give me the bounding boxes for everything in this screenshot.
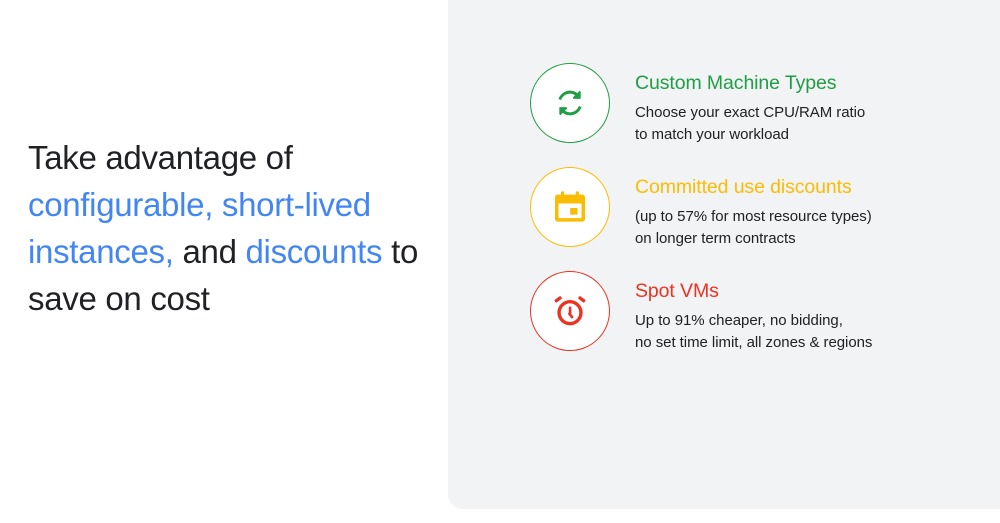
headline-accent-2: discounts xyxy=(246,233,383,270)
feature-description: (up to 57% for most resource types) on l… xyxy=(635,206,872,250)
left-panel: Take advantage of configurable, short-li… xyxy=(0,0,448,523)
feature-list: Custom Machine Types Choose your exact C… xyxy=(530,63,1000,354)
feature-title: Custom Machine Types xyxy=(635,71,865,96)
feature-item-committed-use-discounts: Committed use discounts (up to 57% for m… xyxy=(530,167,1000,250)
feature-title: Committed use discounts xyxy=(635,175,872,200)
sync-icon xyxy=(530,63,610,143)
feature-text-block: Committed use discounts (up to 57% for m… xyxy=(635,167,872,250)
headline-segment-2: and xyxy=(174,233,246,270)
feature-title: Spot VMs xyxy=(635,279,872,304)
feature-text-block: Spot VMs Up to 91% cheaper, no bidding, … xyxy=(635,271,872,354)
feature-text-block: Custom Machine Types Choose your exact C… xyxy=(635,63,865,146)
feature-description: Choose your exact CPU/RAM ratio to match… xyxy=(635,102,865,146)
page-headline: Take advantage of configurable, short-li… xyxy=(28,134,418,322)
feature-description: Up to 91% cheaper, no bidding, no set ti… xyxy=(635,310,872,354)
feature-item-spot-vms: Spot VMs Up to 91% cheaper, no bidding, … xyxy=(530,271,1000,354)
headline-segment-1: Take advantage of xyxy=(28,139,293,176)
feature-item-custom-machine-types: Custom Machine Types Choose your exact C… xyxy=(530,63,1000,146)
calendar-icon xyxy=(530,167,610,247)
slide-root: Take advantage of configurable, short-li… xyxy=(0,0,1000,523)
alarm-clock-icon xyxy=(530,271,610,351)
right-panel: Custom Machine Types Choose your exact C… xyxy=(448,0,1000,509)
